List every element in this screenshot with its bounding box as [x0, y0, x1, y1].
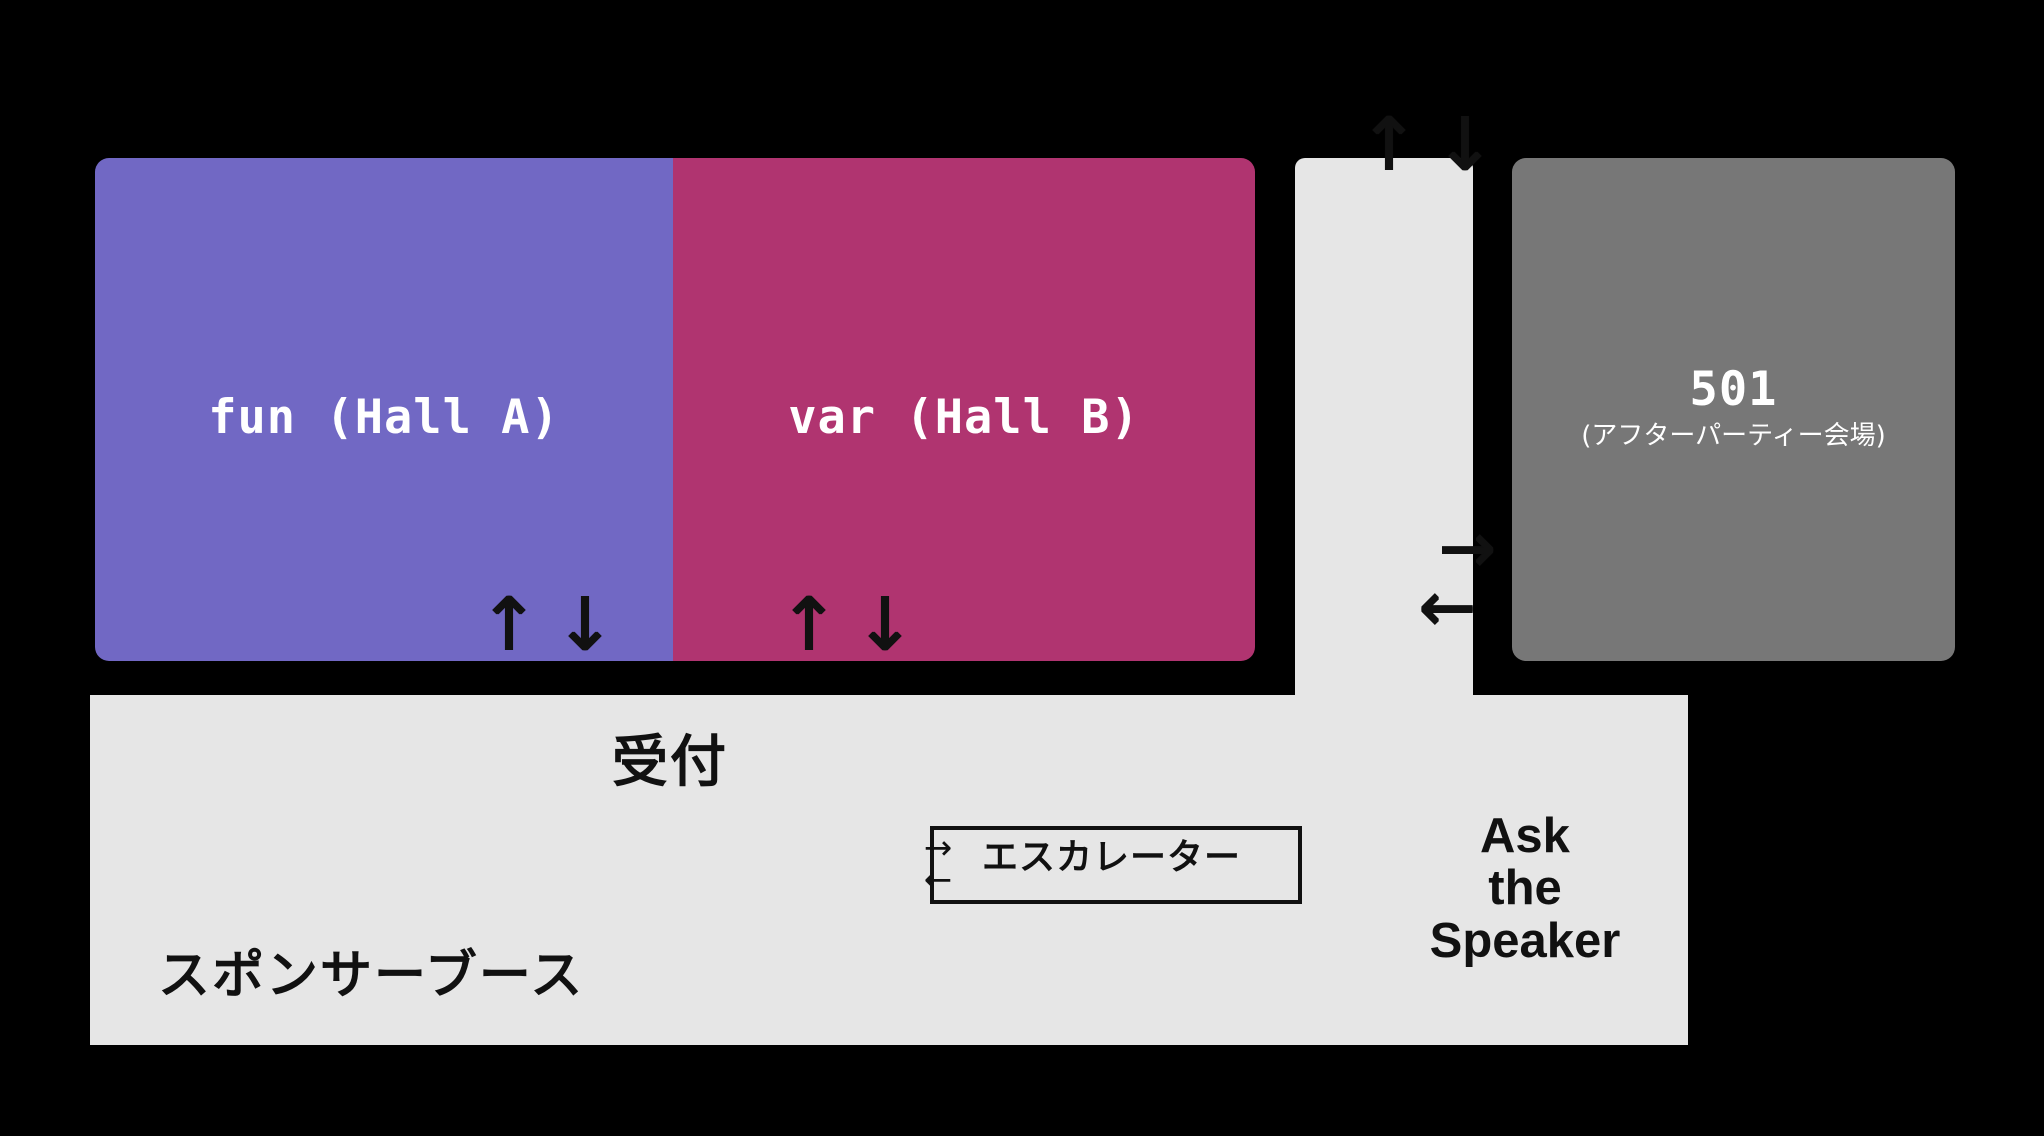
- ask-the-speaker-label: Ask the Speaker: [1400, 810, 1650, 967]
- arrow-down-icon: ↓: [1434, 108, 1496, 182]
- room-501-entrance-arrows-icon: → ←: [1438, 520, 1497, 637]
- ask-the-speaker-line-3: Speaker: [1400, 915, 1650, 967]
- arrow-up-icon: ↑: [778, 588, 840, 662]
- hall-b-entrance-arrows-icon: ↑ ↓: [778, 588, 916, 662]
- room-hall-b-label: var (Hall B): [788, 394, 1140, 441]
- arrow-left-icon: ←: [1418, 579, 1497, 636]
- room-501[interactable]: 501 (アフターパーティー会場): [1512, 158, 1955, 661]
- arrow-up-icon: ↑: [1358, 108, 1420, 182]
- hall-a-entrance-arrows-icon: ↑ ↓: [478, 588, 616, 662]
- room-501-label: 501: [1690, 366, 1778, 413]
- escalator-label: エスカレーター: [982, 840, 1241, 876]
- room-hall-b[interactable]: var (Hall B): [673, 158, 1255, 661]
- ask-the-speaker-line-2: the: [1400, 862, 1650, 914]
- escalator-arrows-icon: → ←: [898, 832, 978, 897]
- arrow-up-icon: ↑: [478, 588, 540, 662]
- floor-map: fun (Hall A) var (Hall B) 501 (アフターパーティー…: [0, 0, 2044, 1136]
- arrow-left-icon: ←: [898, 864, 978, 896]
- sponsor-booth-label: スポンサーブース: [158, 950, 584, 1002]
- room-501-sublabel: (アフターパーティー会場): [1581, 421, 1885, 452]
- corridor-up-down-arrows-icon: ↑ ↓: [1358, 108, 1496, 182]
- room-hall-a-label: fun (Hall A): [208, 394, 560, 441]
- arrow-down-icon: ↓: [854, 588, 916, 662]
- arrow-down-icon: ↓: [554, 588, 616, 662]
- ask-the-speaker-line-1: Ask: [1400, 810, 1650, 862]
- reception-label: 受付: [612, 735, 728, 791]
